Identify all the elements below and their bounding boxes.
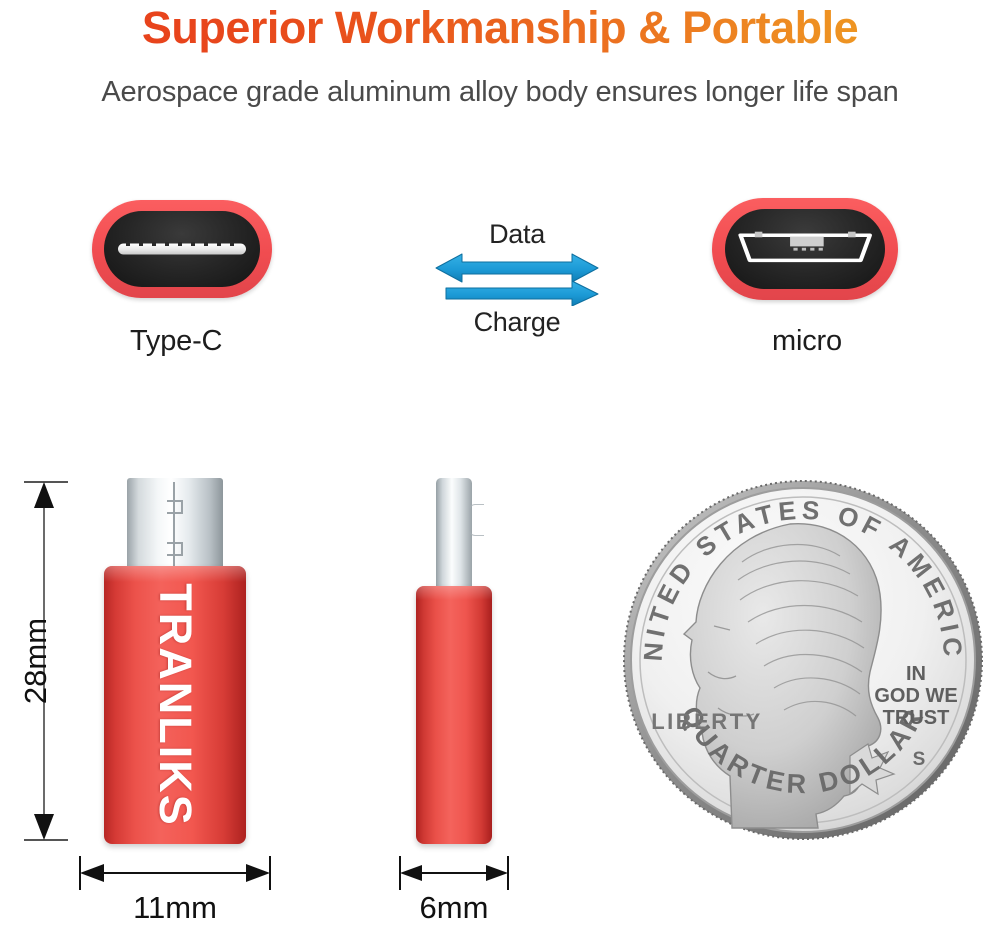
plug-notch-top: [167, 500, 183, 514]
type-c-pin-contacts: [126, 242, 238, 246]
micro-usb-label: micro: [772, 325, 842, 358]
adapter-side-micro-plug: [436, 478, 472, 594]
type-c-port-cavity: [104, 211, 260, 287]
body-highlight-side: [416, 586, 492, 600]
page-title: Superior Workmanship & Portable: [0, 2, 1000, 54]
coin-mint-mark: S: [913, 749, 926, 770]
charge-label: Charge: [432, 306, 602, 338]
adapter-side-body: [416, 586, 492, 844]
coin-liberty-legend: LIBERTY: [651, 709, 763, 734]
height-dimension-label: 28mm: [18, 609, 54, 713]
height-dimension: 28mm: [6, 478, 68, 844]
side-width-label: 6mm: [396, 890, 512, 926]
type-c-port-illustration: [92, 200, 272, 298]
adapter-side-view: [406, 478, 502, 844]
quarter-coin-illustration: UNITED STATES OF AMERICA QUARTER DOLLAR …: [622, 476, 984, 844]
micro-usb-port-illustration: [712, 198, 898, 300]
side-width-arrow-icon: [396, 856, 512, 890]
coin-motto-line1: IN: [906, 663, 926, 685]
transfer-arrows-icon: [432, 250, 602, 306]
type-c-label: Type-C: [130, 325, 222, 358]
front-width-label: 11mm: [76, 890, 274, 926]
front-width-dimension: 11mm: [76, 856, 274, 926]
plug-notch-bottom: [167, 542, 183, 556]
coin-motto-line2: GOD WE: [874, 685, 957, 707]
adapter-front-view: TRANLIKS: [104, 478, 246, 844]
adapter-front-body: TRANLIKS: [104, 566, 246, 844]
micro-usb-port-cavity: [725, 209, 885, 289]
plug-seam-line: [173, 482, 175, 574]
brand-logo-text: TRANLIKS: [149, 583, 201, 826]
data-label: Data: [432, 218, 602, 250]
plug-clip-detail: [469, 504, 484, 536]
front-width-arrow-icon: [76, 856, 274, 890]
quarter-coin-graphic: UNITED STATES OF AMERICA QUARTER DOLLAR …: [622, 476, 984, 844]
micro-usb-slot-outline: [738, 231, 872, 265]
page-subtitle: Aerospace grade aluminum alloy body ensu…: [0, 76, 1000, 109]
data-charge-indicator: Data Charge: [432, 218, 602, 338]
coin-motto-line3: TRUST: [883, 707, 950, 729]
adapter-front-micro-plug: [127, 478, 223, 574]
body-highlight: [104, 566, 246, 582]
side-width-dimension: 6mm: [396, 856, 512, 926]
